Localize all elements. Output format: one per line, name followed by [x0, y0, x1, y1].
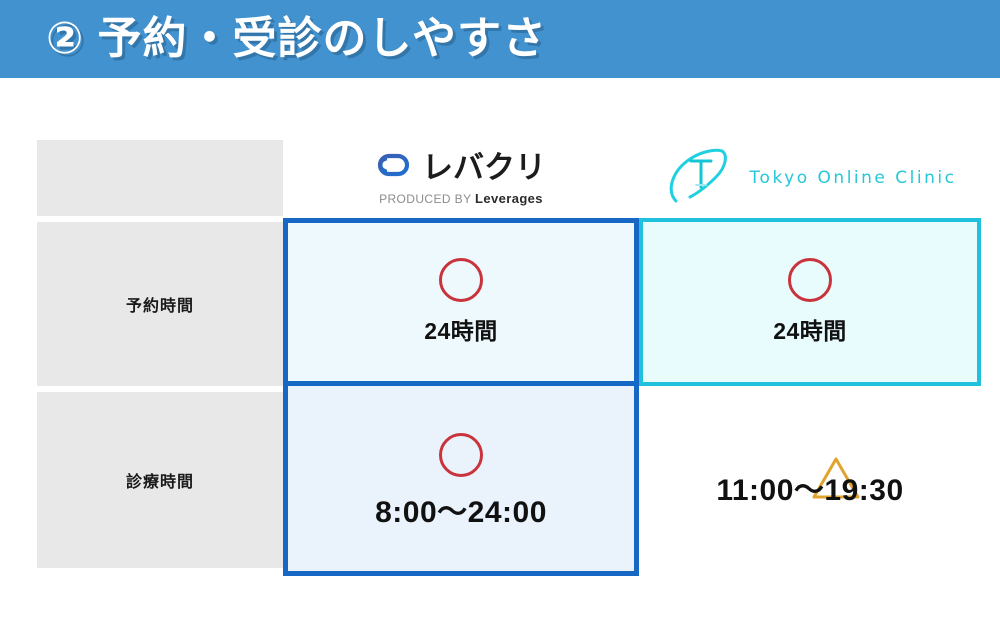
page-title: ② 予約・受診のしやすさ — [46, 6, 547, 72]
levacli-produced-by: PRODUCED BY Leverages — [379, 191, 543, 206]
levacli-logo: レバクリ — [376, 150, 546, 185]
label-column-header — [37, 140, 283, 216]
header-band: ② 予約・受診のしやすさ — [0, 0, 1000, 78]
cell-value: 11:00〜19:30 — [716, 465, 903, 509]
column-header-tokyo-online-clinic: Tokyo Online Clinic — [639, 140, 981, 216]
comparison-table: 予約時間 診療時間 レバクリ PRODU — [0, 78, 1000, 640]
swoosh-t-icon — [664, 147, 742, 210]
row-label-text: 予約時間 — [126, 292, 194, 316]
cell-reservation-levacli: 24時間 — [283, 222, 639, 382]
cell-value: 24時間 — [424, 312, 498, 346]
row-label-reservation-time: 予約時間 — [37, 222, 283, 386]
column-header-levacli: レバクリ PRODUCED BY Leverages — [283, 140, 639, 216]
cell-reservation-tokyo-online-clinic: 24時間 — [639, 222, 981, 382]
circle-mark-icon — [788, 258, 832, 302]
tokyo-online-clinic-logo: Tokyo Online Clinic — [664, 147, 957, 210]
leverages-brand: Leverages — [475, 191, 543, 206]
produced-by-prefix: PRODUCED BY — [379, 192, 475, 206]
circle-mark-icon — [439, 258, 483, 302]
chain-link-icon — [376, 150, 414, 185]
circle-mark-icon — [439, 433, 483, 477]
row-label-consultation-time: 診療時間 — [37, 392, 283, 568]
cell-consultation-tokyo-online-clinic: 11:00〜19:30 — [639, 392, 981, 572]
levacli-wordmark: レバクリ — [422, 152, 546, 183]
row-label-text: 診療時間 — [126, 468, 194, 492]
tokyo-online-clinic-wordmark: Tokyo Online Clinic — [750, 168, 957, 188]
cell-value: 24時間 — [773, 312, 847, 346]
cell-value: 8:00〜24:00 — [375, 487, 547, 531]
cell-consultation-levacli: 8:00〜24:00 — [283, 392, 639, 572]
